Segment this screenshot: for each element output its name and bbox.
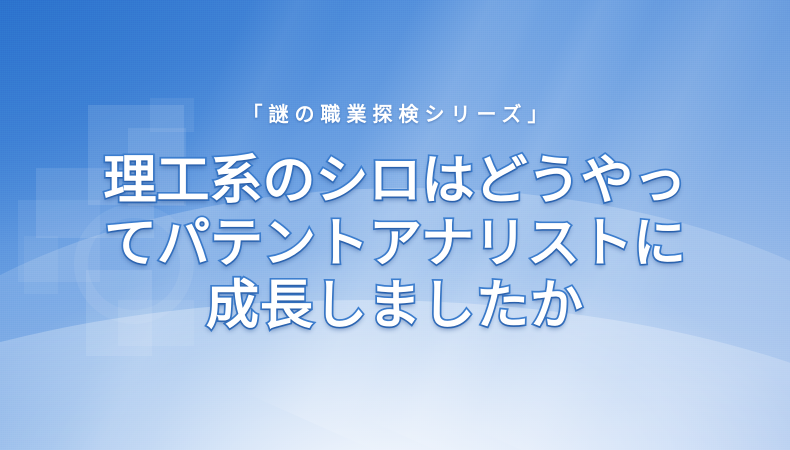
title-banner: 「謎の職業探検シリーズ」 理工系のシロはどうやっ てパテントアナリストに 成長し… (0, 0, 790, 450)
banner-content: 「謎の職業探検シリーズ」 理工系のシロはどうやっ てパテントアナリストに 成長し… (0, 0, 790, 450)
series-subtitle: 「謎の職業探検シリーズ」 (237, 104, 554, 124)
page-title: 理工系のシロはどうやっ てパテントアナリストに 成長しましたか (104, 150, 687, 338)
page-title-line-2: てパテントアナリストに (104, 213, 687, 276)
page-title-line-1: 理工系のシロはどうやっ (104, 150, 687, 213)
page-title-line-3: 成長しましたか (104, 275, 687, 338)
